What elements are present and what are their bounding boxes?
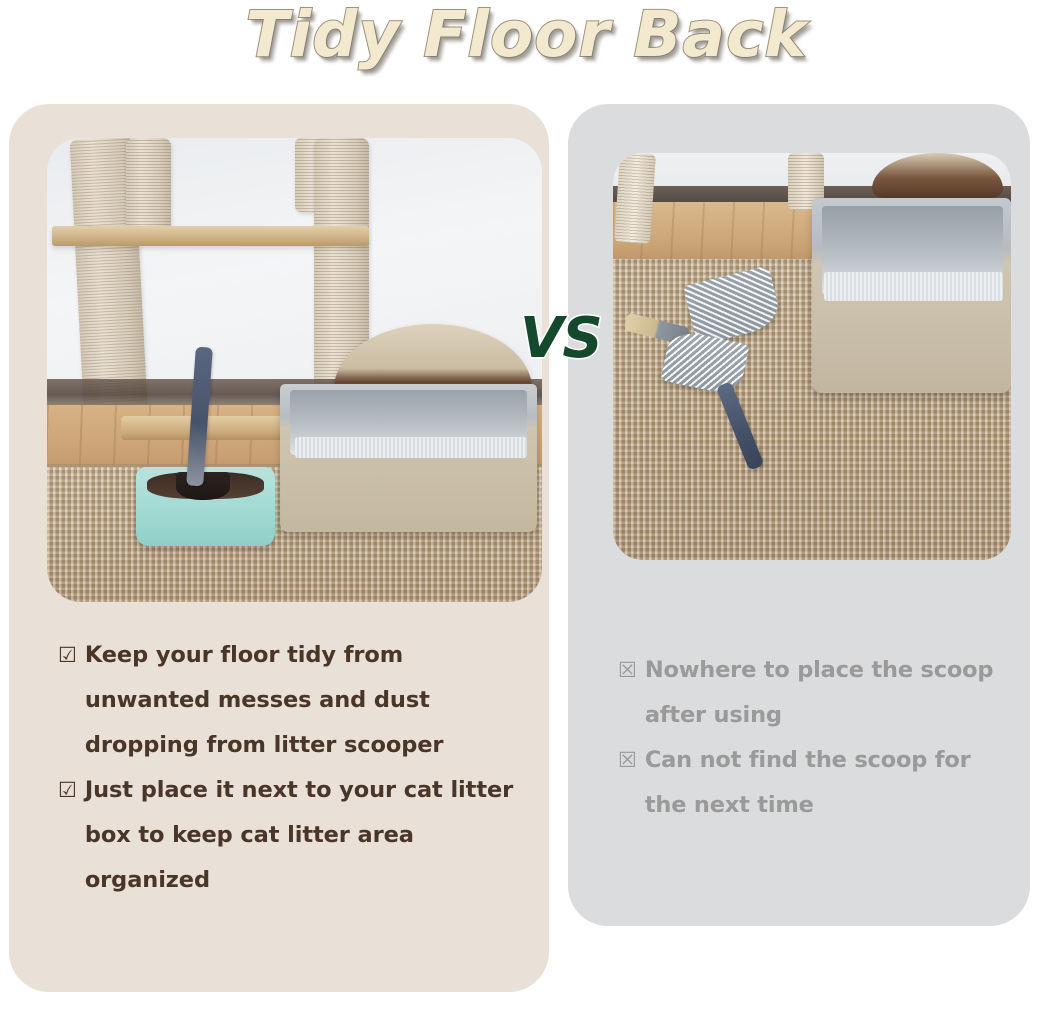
list-item: ☒ Can not find the scoop for the next ti… [618, 738, 1018, 828]
crossed-box-icon: ☒ [618, 648, 637, 692]
crossed-box-icon: ☒ [618, 738, 637, 782]
con-photo-scene [613, 153, 1011, 560]
checked-box-icon: ☑ [58, 633, 77, 678]
litter-box [812, 198, 1011, 393]
vs-badge: VS [520, 311, 602, 367]
pro-bullet-list: ☑ Keep your floor tidy from unwanted mes… [58, 633, 528, 903]
con-bullet-list: ☒ Nowhere to place the scoop after using… [618, 648, 1018, 828]
pro-bullet-text: Keep your floor tidy from unwanted messe… [85, 633, 528, 768]
checked-box-icon: ☑ [58, 768, 77, 813]
pro-product-photo [47, 138, 542, 602]
con-bullet-text: Can not find the scoop for the next time [645, 738, 1018, 828]
list-item: ☑ Keep your floor tidy from unwanted mes… [58, 633, 528, 768]
pro-bullet-text: Just place it next to your cat litter bo… [85, 768, 528, 903]
scratching-post-icon [126, 138, 171, 240]
litter-box [280, 384, 537, 532]
list-item: ☒ Nowhere to place the scoop after using [618, 648, 1018, 738]
con-product-photo [613, 153, 1011, 560]
cat-tree-shelf [52, 226, 369, 245]
page-title: Tidy Floor Back [0, 0, 1053, 78]
scratching-post-icon [614, 153, 656, 244]
con-bullet-text: Nowhere to place the scoop after using [645, 648, 1018, 738]
page-title-text: Tidy Floor Back [246, 0, 808, 78]
pro-photo-scene [47, 138, 542, 602]
list-item: ☑ Just place it next to your cat litter … [58, 768, 528, 903]
